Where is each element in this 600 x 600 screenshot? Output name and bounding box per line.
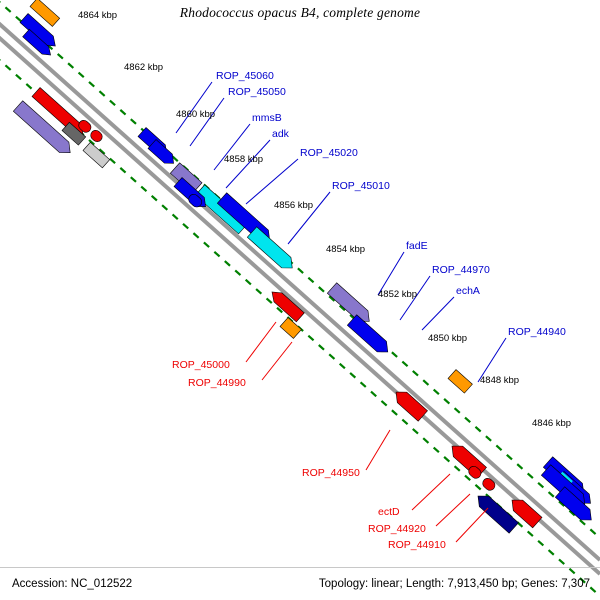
gene-label-rop44970[interactable]: ROP_44970 [432, 264, 490, 276]
scale-tick-label: 4864 kbp [78, 10, 117, 21]
genome-map-canvas [0, 0, 600, 600]
gene-label-rop44950[interactable]: ROP_44950 [302, 467, 360, 479]
scale-tick-label: 4850 kbp [428, 333, 467, 344]
gene-label-rop45060[interactable]: ROP_45060 [216, 70, 274, 82]
scale-tick-label: 4858 kbp [224, 154, 263, 165]
accession-label: Accession: NC_012522 [12, 578, 132, 590]
gene-feature-group-forward [13, 0, 594, 508]
gene-label-ectd[interactable]: ectD [378, 506, 400, 518]
gene-label-rop44940[interactable]: ROP_44940 [508, 326, 566, 338]
gene-label-fade[interactable]: fadE [406, 240, 428, 252]
genome-map-viewer: Rhodococcus opacus B4, complete genome 4… [0, 0, 600, 600]
genome-backbone-axis [0, 20, 600, 574]
gene-label-rop45000[interactable]: ROP_45000 [172, 359, 230, 371]
scale-tick-label: 4856 kbp [274, 200, 313, 211]
scale-tick-label: 4860 kbp [176, 109, 215, 120]
gene-label-rop44920[interactable]: ROP_44920 [368, 523, 426, 535]
topology-label: Topology: linear; Length: 7,913,450 bp; … [319, 578, 590, 590]
gene-label-rop45010[interactable]: ROP_45010 [332, 180, 390, 192]
gene-arrow [83, 142, 110, 168]
scale-tick-label: 4862 kbp [124, 62, 163, 73]
gene-arrow [347, 315, 392, 357]
scale-tick-label: 4854 kbp [326, 244, 365, 255]
scale-tick-label: 4846 kbp [532, 418, 571, 429]
gene-arrow [327, 283, 374, 327]
scale-tick-label: 4852 kbp [378, 289, 417, 300]
gene-label-echa[interactable]: echA [456, 285, 480, 297]
gene-arrow [448, 370, 472, 394]
leader-lines-red [246, 322, 488, 542]
scale-tick-label: 4848 kbp [480, 375, 519, 386]
gene-label-rop45020[interactable]: ROP_45020 [300, 147, 358, 159]
gene-label-rop45050[interactable]: ROP_45050 [228, 86, 286, 98]
gene-label-adk[interactable]: adk [272, 128, 289, 140]
gene-label-rop44910[interactable]: ROP_44910 [388, 539, 446, 551]
scale-tick-line-upper [0, 0, 600, 538]
gene-arrow [280, 318, 301, 339]
gene-label-mmsb[interactable]: mmsB [252, 112, 282, 124]
footer-divider [0, 567, 600, 568]
gene-label-rop44990[interactable]: ROP_44990 [188, 377, 246, 389]
